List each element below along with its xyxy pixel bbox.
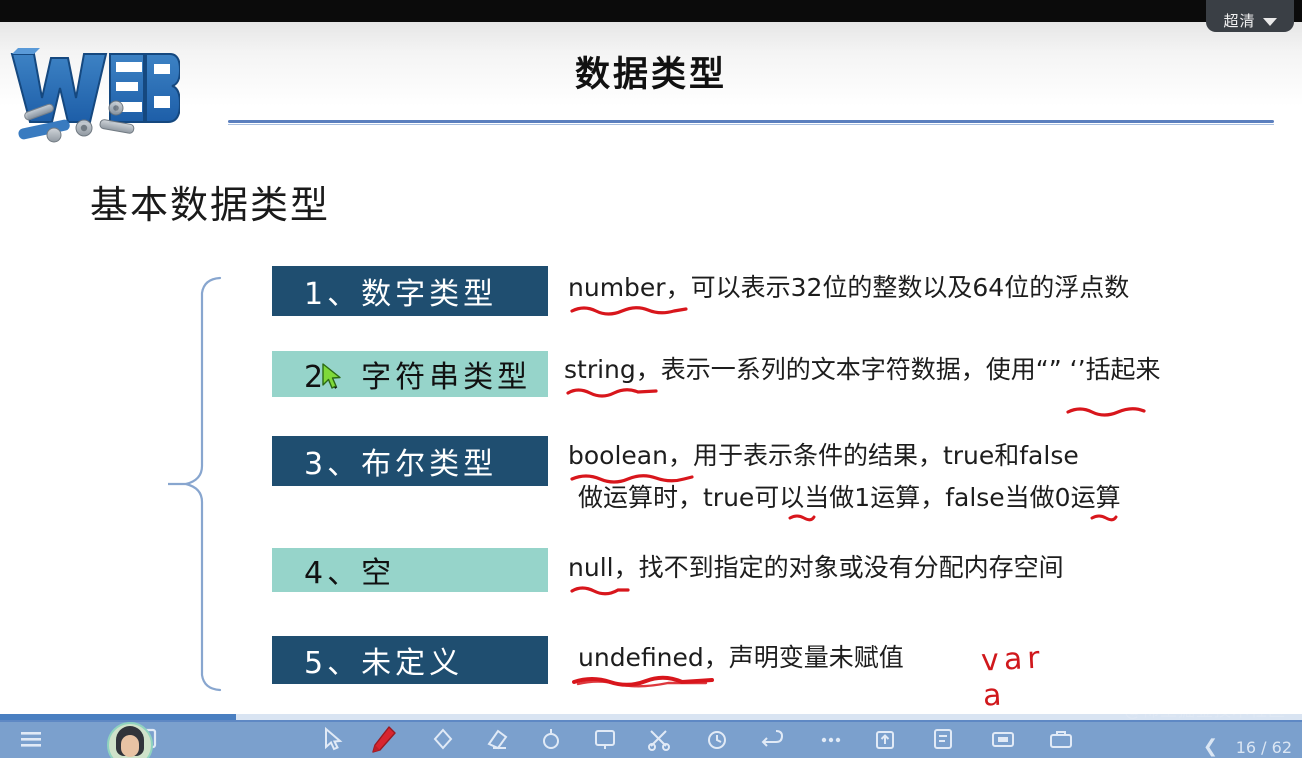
pen-underline-number — [570, 304, 688, 316]
laser-icon[interactable] — [538, 726, 564, 752]
upload-icon[interactable] — [872, 726, 898, 752]
pen-underline-quotes — [1066, 405, 1152, 417]
type-desc-1: number，可以表示32位的整数以及64位的浮点数 — [568, 270, 1129, 306]
type-tag-2[interactable]: 2、字符串类型 — [272, 351, 548, 397]
player-bar: ❮ 16 / 62 @稀土掘金技术社区 — [0, 714, 1302, 758]
note-icon[interactable] — [930, 726, 956, 752]
whiteboard-icon[interactable] — [592, 726, 618, 752]
letterbox-top — [0, 0, 1302, 22]
pen-underline-null — [570, 584, 630, 596]
timer-icon[interactable] — [704, 726, 730, 752]
seek-bar-shadow — [0, 720, 1302, 722]
pen-underline-undefined — [572, 674, 714, 688]
type-desc-5: undefined，声明变量未赋值 — [578, 640, 904, 676]
type-tag-1[interactable]: 1、数字类型 — [272, 266, 548, 316]
player-controls: ❮ 16 / 62 — [0, 726, 1302, 758]
shape-icon[interactable] — [430, 726, 456, 752]
pointer-icon[interactable] — [320, 726, 346, 752]
type-desc-3-line2: 做运算时，true可以当做1运算，false当做0运算 — [578, 480, 1121, 516]
type-tag-4[interactable]: 4、空 — [272, 548, 548, 592]
mouse-cursor — [321, 363, 343, 395]
watermark: @稀土掘金技术社区 — [1124, 714, 1286, 721]
pen-underline-zero — [1090, 512, 1118, 522]
eraser-icon[interactable] — [484, 726, 510, 752]
undo-icon[interactable] — [760, 726, 786, 752]
more-icon[interactable] — [818, 726, 844, 752]
type-desc-3-line1: boolean，用于表示条件的结果，true和false — [568, 438, 1079, 474]
quality-selector[interactable]: 超清 — [1206, 0, 1294, 32]
type-desc-4: null，找不到指定的对象或没有分配内存空间 — [568, 550, 1064, 586]
screen-icon[interactable] — [990, 726, 1016, 752]
pen-underline-boolean — [570, 472, 694, 484]
page-indicator: 16 / 62 — [1236, 738, 1292, 757]
type-tag-5[interactable]: 5、未定义 — [272, 636, 548, 684]
chevron-down-icon — [1263, 18, 1277, 26]
pen-underline-one — [788, 512, 816, 522]
slide-canvas: 数据类型 基本数据类型 1、数字类型 number，可以表示32位的整数以及64… — [0, 22, 1302, 714]
type-tag-3[interactable]: 3、布尔类型 — [272, 436, 548, 486]
avatar-face — [121, 735, 139, 757]
quality-label: 超清 — [1223, 14, 1255, 29]
type-list: 1、数字类型 number，可以表示32位的整数以及64位的浮点数 2、字符串类… — [0, 22, 1302, 714]
cut-icon[interactable] — [646, 726, 672, 752]
pen-annotation-var-a: var a — [980, 640, 1047, 713]
pen-icon[interactable] — [368, 724, 398, 756]
briefcase-icon[interactable] — [1048, 726, 1074, 752]
chevron-left-icon[interactable]: ❮ — [1203, 736, 1218, 757]
type-desc-2: string，表示一系列的文本字符数据，使用“” ‘’括起来 — [564, 352, 1161, 388]
pen-underline-string — [566, 386, 658, 398]
video-player-screen: 超清 — [0, 0, 1302, 758]
menu-icon[interactable] — [18, 726, 44, 752]
